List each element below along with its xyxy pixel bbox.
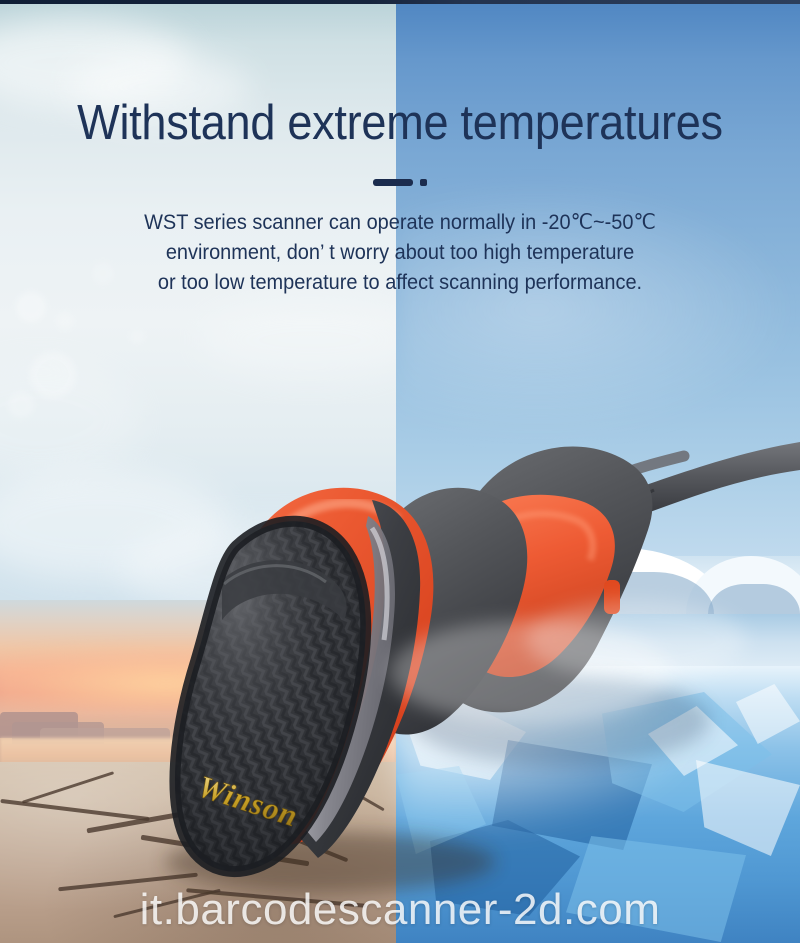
sunset-glow	[0, 642, 396, 712]
promo-banner: Winson Withstand extreme temperatures WS…	[0, 0, 800, 943]
divider-bar	[373, 179, 413, 186]
description-line-1: WST series scanner can operate normally …	[20, 208, 780, 238]
page-title: Withstand extreme temperatures	[32, 98, 768, 150]
divider-dot	[420, 179, 427, 186]
description-line-3: or too low temperature to affect scannin…	[20, 268, 780, 298]
title-divider	[0, 176, 800, 188]
mesa-shape	[196, 726, 306, 738]
bokeh-circle	[30, 352, 76, 398]
bokeh-circle	[8, 392, 34, 418]
top-edge-strip	[0, 0, 800, 4]
description-text: WST series scanner can operate normally …	[20, 208, 780, 298]
bokeh-circle	[56, 312, 74, 330]
description-line-2: environment, don’ t worry about too high…	[20, 238, 780, 268]
cold-mist	[396, 640, 716, 840]
bokeh-circle	[130, 330, 144, 344]
cloud-shape	[200, 300, 420, 380]
site-watermark: it.barcodescanner-2d.com	[0, 885, 800, 935]
